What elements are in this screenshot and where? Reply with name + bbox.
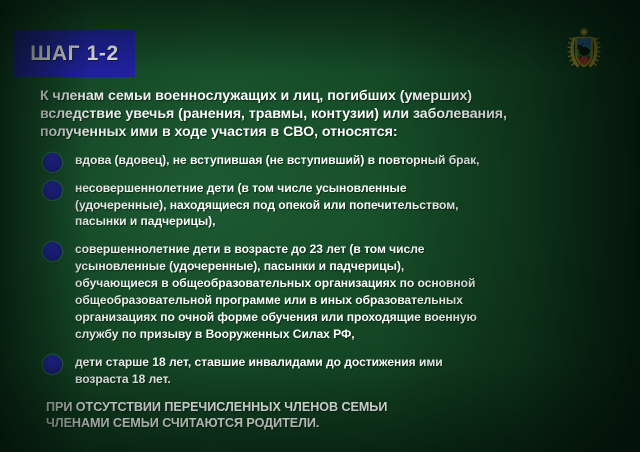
- heading-line: К членам семьи военнослужащих и лиц, пог…: [40, 88, 608, 106]
- heading-line: вследствие увечья (ранения, травмы, конт…: [40, 106, 608, 124]
- list-item: дети старше 18 лет, ставшие инвалидами д…: [40, 354, 608, 388]
- blue-circle-bullet-icon: [43, 355, 62, 374]
- list-item-line: (удочеренные), находящиеся под опекой ил…: [75, 197, 608, 214]
- list-item: вдова (вдовец), не вступившая (не вступи…: [40, 152, 608, 169]
- list-item-line: организациях по очной форме обучения или…: [75, 309, 608, 326]
- blue-circle-bullet-icon: [43, 153, 62, 172]
- list-item-line: общеобразовательной программе или в иных…: [75, 292, 608, 309]
- list-item-text: совершеннолетние дети в возрасте до 23 л…: [75, 241, 608, 343]
- list-item-line: усыновленные (удочеренные), пасынки и па…: [75, 258, 608, 275]
- coat-of-arms-karelia-icon: [564, 26, 604, 70]
- list-item-line: дети старше 18 лет, ставшие инвалидами д…: [75, 354, 608, 371]
- slide-content: К членам семьи военнослужащих и лиц, пог…: [40, 88, 608, 432]
- step-banner: ШАГ 1-2: [14, 30, 135, 77]
- bullet-list: вдова (вдовец), не вступившая (не вступи…: [40, 152, 608, 388]
- list-item-line: вдова (вдовец), не вступившая (не вступи…: [75, 152, 608, 169]
- list-item-line: обучающиеся в общеобразовательных органи…: [75, 275, 608, 292]
- slide-heading: К членам семьи военнослужащих и лиц, пог…: [40, 88, 608, 142]
- presentation-slide: ШАГ 1-2: [0, 0, 640, 452]
- step-banner-label: ШАГ 1-2: [30, 42, 119, 66]
- closing-statement: ПРИ ОТСУТСТВИИ ПЕРЕЧИСЛЕННЫХ ЧЛЕНОВ СЕМЬ…: [46, 399, 608, 432]
- list-item: совершеннолетние дети в возрасте до 23 л…: [40, 241, 608, 343]
- list-item-line: службу по призыву в Вооруженных Силах РФ…: [75, 326, 608, 343]
- closing-line: ПРИ ОТСУТСТВИИ ПЕРЕЧИСЛЕННЫХ ЧЛЕНОВ СЕМЬ…: [46, 399, 608, 416]
- heading-line: полученных ими в ходе участия в СВО, отн…: [40, 124, 608, 142]
- list-item-line: совершеннолетние дети в возрасте до 23 л…: [75, 241, 608, 258]
- closing-line: ЧЛЕНАМИ СЕМЬИ СЧИТАЮТСЯ РОДИТЕЛИ.: [46, 415, 608, 432]
- list-item-line: возраста 18 лет.: [75, 371, 608, 388]
- list-item-line: пасынки и падчерицы),: [75, 213, 608, 230]
- list-item-text: несовершеннолетние дети (в том числе усы…: [75, 180, 608, 231]
- blue-circle-bullet-icon: [43, 242, 62, 261]
- blue-circle-bullet-icon: [43, 181, 62, 200]
- list-item-line: несовершеннолетние дети (в том числе усы…: [75, 180, 608, 197]
- list-item-text: вдова (вдовец), не вступившая (не вступи…: [75, 152, 608, 169]
- list-item: несовершеннолетние дети (в том числе усы…: [40, 180, 608, 231]
- list-item-text: дети старше 18 лет, ставшие инвалидами д…: [75, 354, 608, 388]
